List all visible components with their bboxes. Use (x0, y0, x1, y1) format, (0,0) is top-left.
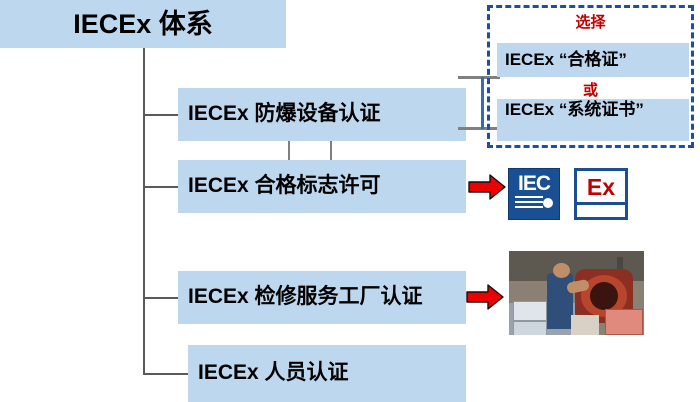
iecex-system-diagram: IECEx 体系 IECEx 防爆设备认证 IECEx 合格标志许可 IECEx… (0, 0, 700, 402)
node-equipment-certification: IECEx 防爆设备认证 (178, 88, 466, 141)
tree-branch-line-3 (143, 297, 179, 299)
right-arrow-icon-to-marks (468, 173, 506, 201)
node-service-facility: IECEx 检修服务工厂认证 (178, 271, 466, 324)
option-certificate-of-conformity: IECEx “合格证” (497, 43, 689, 77)
ex-logo-divider (577, 202, 625, 205)
node-equipment-certification-label: IECEx 防爆设备认证 (188, 103, 381, 125)
ex-logo-text: Ex (577, 172, 625, 202)
iec-logo-dot (543, 198, 553, 208)
node-mark-licence-label: IECEx 合格标志许可 (188, 175, 381, 197)
node-service-facility-label: IECEx 检修服务工厂认证 (188, 286, 423, 308)
option-certificate-of-conformity-label: IECEx “合格证” (505, 51, 627, 69)
selection-connector-vertical (481, 77, 484, 129)
iec-logo-icon: IEC (508, 168, 560, 220)
selection-panel-heading: 选择 (487, 11, 694, 32)
node-mark-licence: IECEx 合格标志许可 (178, 160, 466, 213)
selection-panel-separator: 或 (487, 79, 694, 100)
option-system-certificate: IECEx “系统证书” (497, 99, 689, 141)
service-facility-photo (509, 251, 644, 335)
node-personnel-certification: IECEx 人员认证 (188, 345, 466, 402)
option-system-certificate-label: IECEx “系统证书” (505, 101, 644, 119)
connector-stub-right (330, 141, 332, 161)
tree-branch-line-1 (143, 114, 179, 116)
connector-stub-left (288, 141, 290, 161)
root-node-iecex-system: IECEx 体系 (0, 0, 286, 48)
tree-trunk-line (143, 48, 145, 375)
iec-logo-bars (515, 196, 543, 210)
root-node-label: IECEx 体系 (73, 10, 213, 38)
node-personnel-certification-label: IECEx 人员认证 (198, 362, 349, 384)
tree-branch-line-2 (143, 186, 179, 188)
right-arrow-icon-to-photo (466, 283, 504, 311)
ex-logo-icon: Ex (574, 168, 628, 220)
tree-branch-line-4 (143, 373, 189, 375)
iec-logo-text: IEC (509, 172, 559, 196)
